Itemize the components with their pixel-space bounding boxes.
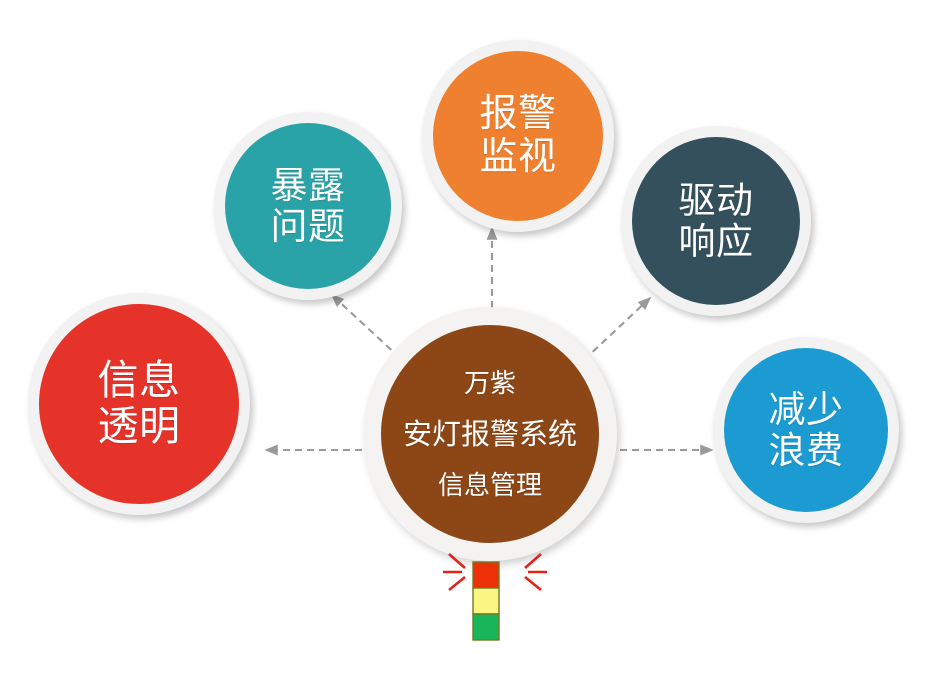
node-reduce-waste-disc: 减少 浪费 [724,348,888,512]
connector-to-drive-response [584,298,650,360]
red-lamp [473,562,499,588]
center-hub[interactable]: 万紫 安灯报警系统 信息管理 [363,307,617,561]
center-hub-line3: 信息管理 [438,472,542,499]
node-expose-problems-label-line2: 问题 [271,206,346,247]
node-reduce-waste-label-line1: 减少 [769,389,844,430]
node-alarm-monitoring[interactable]: 报警 监视 [422,40,614,232]
diagram-canvas: 信息 透明 暴露 问题 报警 监视 驱动 响应 减少 浪费 万紫 安 [0,0,939,680]
connector-to-expose-problems [332,295,400,358]
node-information-transparency-label-line1: 信息 [98,358,181,404]
yellow-lamp [473,588,499,614]
node-drive-response-disc: 驱动 响应 [632,137,800,305]
node-alarm-monitoring-label-line1: 报警 [479,93,556,136]
node-drive-response-label-line1: 驱动 [679,180,754,221]
node-drive-response-label-line2: 响应 [679,221,754,262]
center-hub-line2: 安灯报警系统 [403,420,577,450]
andon-light-tower [441,548,549,648]
node-information-transparency-label-line2: 透明 [98,404,181,450]
node-expose-problems-disc: 暴露 问题 [225,123,391,289]
center-hub-line1: 万紫 [464,370,516,397]
node-expose-problems-label-line1: 暴露 [271,165,346,206]
node-alarm-monitoring-label-line2: 监视 [479,136,556,179]
node-information-transparency[interactable]: 信息 透明 [28,293,250,515]
node-information-transparency-disc: 信息 透明 [39,304,239,504]
node-reduce-waste[interactable]: 减少 浪费 [713,337,899,523]
node-reduce-waste-label-line2: 浪费 [769,430,844,471]
center-hub-disc: 万紫 安灯报警系统 信息管理 [381,325,599,543]
node-alarm-monitoring-disc: 报警 监视 [433,51,603,221]
node-expose-problems[interactable]: 暴露 问题 [214,112,402,300]
node-drive-response[interactable]: 驱动 响应 [621,126,811,316]
green-lamp [473,614,499,640]
